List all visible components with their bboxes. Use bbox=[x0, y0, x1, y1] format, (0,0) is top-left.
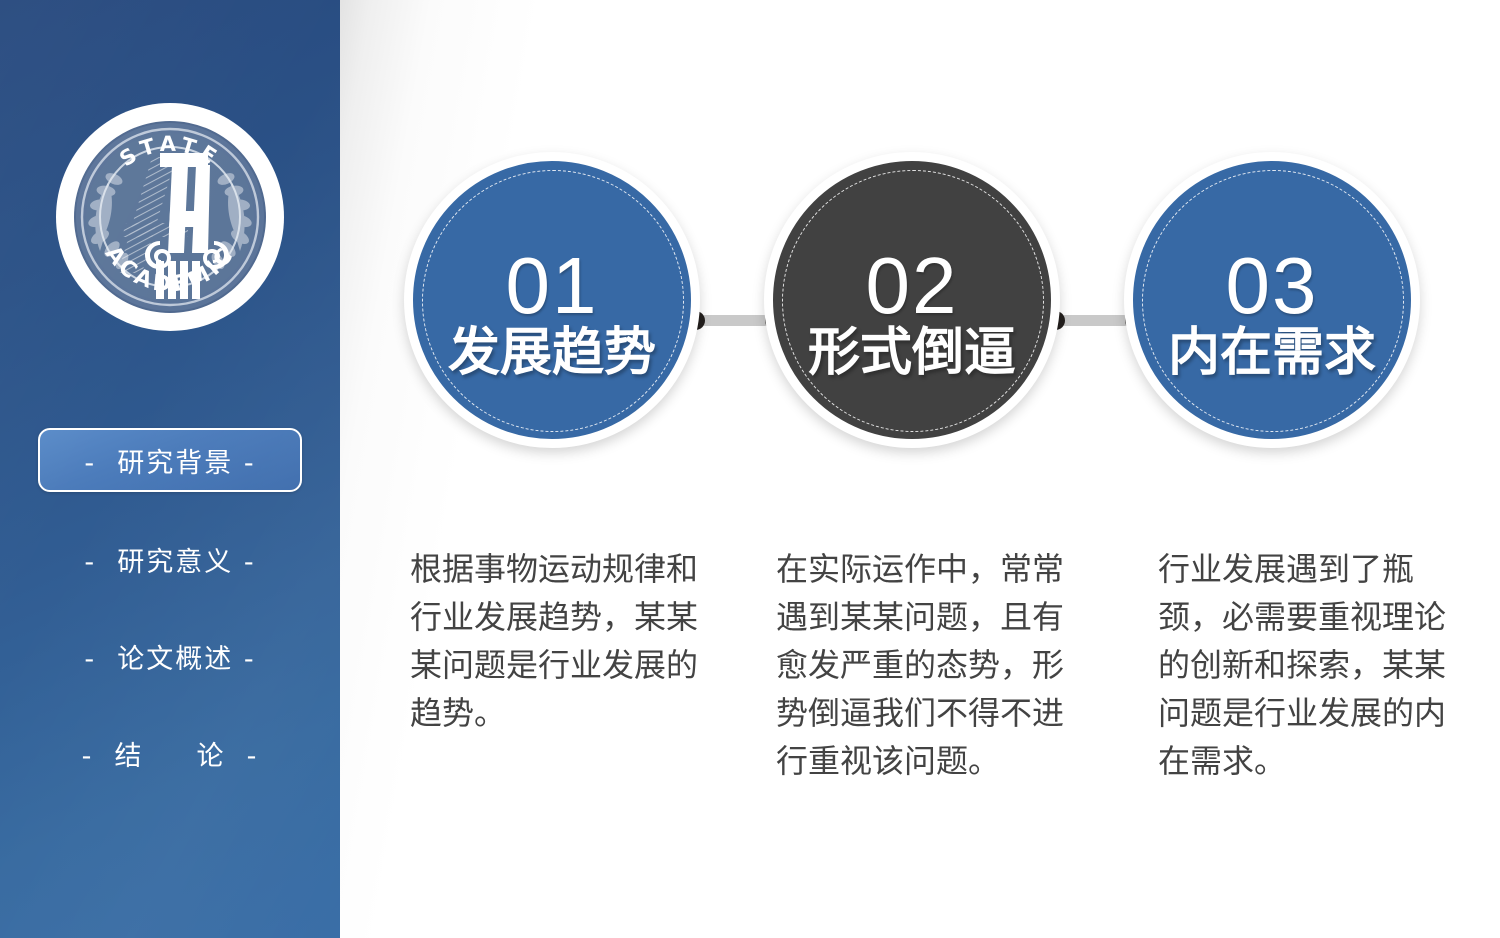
sidebar-item-research-background[interactable]: - 研究背景 - bbox=[38, 428, 302, 492]
step-title: 发展趋势 bbox=[448, 326, 656, 381]
step-circle-01[interactable]: 01 发展趋势 bbox=[404, 152, 700, 448]
step-title: 形式倒逼 bbox=[808, 326, 1016, 381]
sidebar-nav: - 研究背景 - - 研究意义 - - 论文概述 - - 结 论 - bbox=[0, 428, 340, 820]
sidebar-item-thesis-overview[interactable]: - 论文概述 - bbox=[38, 626, 302, 686]
sidebar-item-label: - 研究背景 - bbox=[84, 441, 255, 480]
step-number: 03 bbox=[1226, 248, 1319, 324]
step-number: 01 bbox=[506, 248, 599, 324]
sidebar-item-label: - 研究意义 - bbox=[84, 540, 255, 579]
step-circle-02[interactable]: 02 形式倒逼 bbox=[764, 152, 1060, 448]
logo: STATE ACADEMIC bbox=[56, 103, 284, 331]
sidebar-item-research-significance[interactable]: - 研究意义 - bbox=[38, 529, 302, 589]
sidebar: STATE ACADEMIC - 研究背景 - - 研究意义 - - 论文概述 … bbox=[0, 0, 340, 938]
sidebar-item-conclusion[interactable]: - 结 论 - bbox=[38, 723, 302, 783]
step-title: 内在需求 bbox=[1168, 326, 1376, 381]
state-academic-seal-icon: STATE ACADEMIC bbox=[56, 103, 284, 331]
step-number: 02 bbox=[866, 248, 959, 324]
step-body-01: 根据事物运动规律和行业发展趋势，某某某问题是行业发展的趋势。 bbox=[410, 545, 710, 737]
step-circle-03[interactable]: 03 内在需求 bbox=[1124, 152, 1420, 448]
connector-bar bbox=[700, 315, 770, 326]
slide-canvas: STATE ACADEMIC - 研究背景 - - 研究意义 - - 论文概述 … bbox=[0, 0, 1500, 938]
step-body-03: 行业发展遇到了瓶颈，必需要重视理论的创新和探索，某某问题是行业发展的内在需求。 bbox=[1158, 545, 1458, 785]
content-background bbox=[340, 0, 1500, 938]
sidebar-item-label: - 论文概述 - bbox=[84, 637, 255, 676]
step-body-02: 在实际运作中，常常遇到某某问题，且有愈发严重的态势，形势倒逼我们不得不进行重视该… bbox=[776, 545, 1076, 785]
connector-bar bbox=[1060, 315, 1130, 326]
sidebar-item-label: - 结 论 - bbox=[82, 734, 259, 773]
